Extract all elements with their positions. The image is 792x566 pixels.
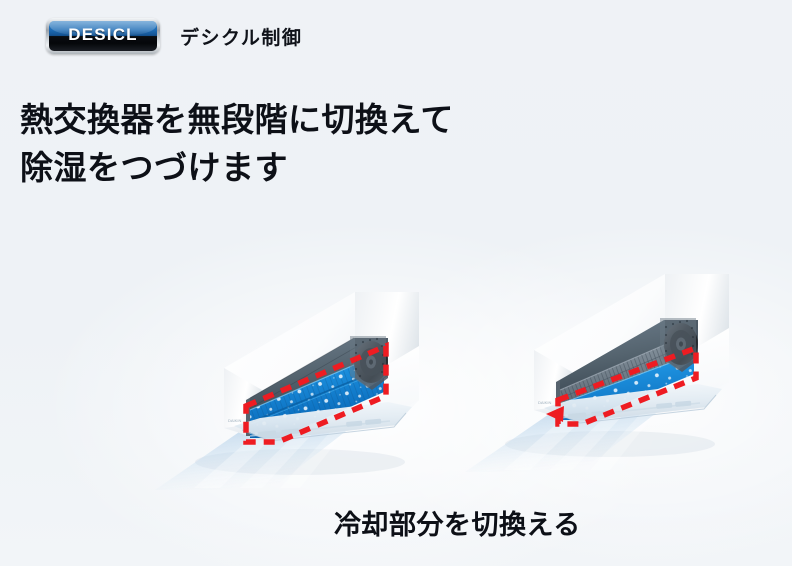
logo-plate: DESICL [49, 21, 157, 51]
air-conditioner-unit-left: DAIKIN [150, 250, 450, 480]
logo-wordmark: DESICL [49, 25, 157, 45]
slide-root: DESICL デシクル制御 熱交換器を無段階に切換えて 除湿をつづけます [0, 0, 792, 566]
desicl-logo: DESICL [46, 18, 160, 54]
air-conditioner-unit-right: DAIKIN [460, 232, 760, 462]
illustration-caption: 冷却部分を切換える [334, 503, 581, 542]
page-title: 熱交換器を無段階に切換えて 除湿をつづけます [20, 96, 454, 192]
header: DESICL デシクル制御 [46, 18, 302, 54]
brand-label: デシクル制御 [180, 23, 302, 50]
unit-brandmark: DAIKIN [538, 400, 551, 405]
unit-brandmark: DAIKIN [228, 418, 241, 423]
